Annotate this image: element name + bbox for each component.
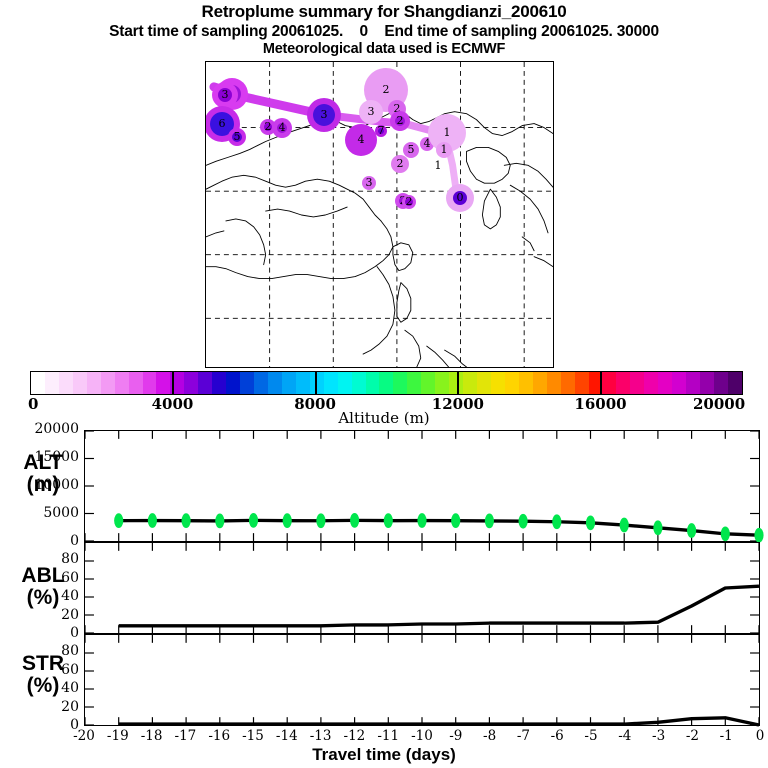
y-tick-label: 60 xyxy=(0,570,79,586)
alt-data-marker xyxy=(417,513,426,528)
plume-marker-day-label: 2 xyxy=(393,157,407,171)
colorbar-segment xyxy=(143,372,157,394)
colorbar-segment xyxy=(630,372,644,394)
colorbar-segment xyxy=(31,372,45,394)
colorbar-segment xyxy=(268,372,282,394)
str-plot-canvas xyxy=(85,635,759,725)
y-tick-label: 15000 xyxy=(0,449,79,465)
y-tick-label: 20 xyxy=(0,607,79,623)
alt-data-marker xyxy=(620,518,629,533)
colorbar-segment xyxy=(198,372,212,394)
altitude-colorbar[interactable] xyxy=(30,371,743,395)
colorbar-segment xyxy=(602,372,616,394)
y-tick-label: 0 xyxy=(0,533,79,549)
plume-marker-day-label: 5 xyxy=(404,143,418,157)
alt-data-marker xyxy=(350,513,359,528)
colorbar-segment xyxy=(254,372,268,394)
y-tick-label: 20 xyxy=(0,699,79,715)
alt-data-marker xyxy=(182,513,191,528)
alt-data-marker xyxy=(451,513,460,528)
plume-marker-day-label: 1 xyxy=(437,143,451,157)
colorbar-segment xyxy=(547,372,561,394)
retroplume-map[interactable]: 53652434232275423221110 xyxy=(205,61,554,368)
meteorological-data-line: Meteorological data used is ECMWF xyxy=(0,41,768,58)
colorbar-segment xyxy=(477,372,491,394)
plume-marker-day-label: 2 xyxy=(402,195,416,209)
alt-data-marker xyxy=(687,523,696,538)
alt-data-marker xyxy=(316,513,325,528)
y-tick-label: 80 xyxy=(0,643,79,659)
plume-marker-day-label: 1 xyxy=(431,159,445,173)
colorbar-segment xyxy=(296,372,310,394)
plume-marker-day-label: 0 xyxy=(453,191,467,205)
alt-data-marker xyxy=(148,513,157,528)
plume-marker-day-label: 1 xyxy=(440,126,454,140)
plume-marker-day-label: 4 xyxy=(354,133,368,147)
colorbar-segment xyxy=(575,372,589,394)
page-title: Retroplume summary for Shangdianzi_20061… xyxy=(0,2,768,22)
abl-plot-canvas xyxy=(85,543,759,633)
colorbar-segment xyxy=(672,372,686,394)
plume-marker-day-label: 2 xyxy=(379,83,393,97)
colorbar-segment xyxy=(505,372,519,394)
str-plot-frame[interactable] xyxy=(84,634,760,726)
y-tick-label: 40 xyxy=(0,680,79,696)
colorbar-segment xyxy=(129,372,143,394)
colorbar-segment xyxy=(700,372,714,394)
colorbar-segment xyxy=(184,372,198,394)
y-tick-label: 10000 xyxy=(0,477,79,493)
x-axis-title: Travel time (days) xyxy=(0,745,768,765)
colorbar-divider xyxy=(600,371,602,395)
y-tick-label: 20000 xyxy=(0,421,79,437)
colorbar-segment xyxy=(379,372,393,394)
colorbar-segment xyxy=(644,372,658,394)
alt-data-marker xyxy=(586,515,595,530)
colorbar-divider xyxy=(457,371,459,395)
alt-data-marker xyxy=(552,514,561,529)
colorbar-segment xyxy=(686,372,700,394)
plume-marker-day-label: 6 xyxy=(215,117,229,131)
colorbar-segment xyxy=(421,372,435,394)
colorbar-segment xyxy=(463,372,477,394)
alt-data-marker xyxy=(653,520,662,535)
alt-plot-frame[interactable] xyxy=(84,430,760,542)
plume-marker-day-label: 2 xyxy=(393,114,407,128)
colorbar-segment xyxy=(366,372,380,394)
plume-marker-day-label: 3 xyxy=(317,108,331,122)
colorbar-segment xyxy=(435,372,449,394)
alt-data-marker xyxy=(721,526,730,541)
alt-data-marker xyxy=(114,513,123,528)
colorbar-segment xyxy=(59,372,73,394)
plume-marker-day-label: 4 xyxy=(275,121,289,135)
colorbar-segment xyxy=(728,372,742,394)
alt-data-marker xyxy=(384,513,393,528)
colorbar-segment xyxy=(658,372,672,394)
plume-marker-day-label: 3 xyxy=(362,176,376,190)
alt-data-marker xyxy=(249,513,258,528)
plume-marker-day-label: 3 xyxy=(218,88,232,102)
colorbar-divider xyxy=(172,371,174,395)
colorbar-segment xyxy=(352,372,366,394)
colorbar-segment xyxy=(533,372,547,394)
alt-plot-canvas xyxy=(85,431,759,541)
colorbar-segment xyxy=(101,372,115,394)
colorbar-segment xyxy=(115,372,129,394)
colorbar-divider xyxy=(315,371,317,395)
plume-marker-day-label: 5 xyxy=(230,130,244,144)
alt-data-marker xyxy=(283,513,292,528)
plume-marker-day-label: 3 xyxy=(364,105,378,119)
colorbar-segment xyxy=(156,372,170,394)
x-tick-label: 0 xyxy=(740,728,768,744)
coastlines xyxy=(206,112,553,367)
alt-data-marker xyxy=(519,514,528,529)
colorbar-segment xyxy=(407,372,421,394)
colorbar-segment xyxy=(616,372,630,394)
abl-plot-frame[interactable] xyxy=(84,542,760,634)
y-tick-label: 80 xyxy=(0,551,79,567)
colorbar-segment xyxy=(226,372,240,394)
colorbar-segment xyxy=(282,372,296,394)
sampling-time-subtitle: Start time of sampling 20061025. 0 End t… xyxy=(0,22,768,41)
colorbar-segment xyxy=(561,372,575,394)
colorbar-segment xyxy=(73,372,87,394)
y-tick-label: 0 xyxy=(0,625,79,641)
colorbar-segment xyxy=(87,372,101,394)
colorbar-segment xyxy=(324,372,338,394)
y-tick-label: 60 xyxy=(0,662,79,678)
alt-data-marker xyxy=(485,514,494,529)
colorbar-gradient xyxy=(30,371,743,395)
y-tick-label: 5000 xyxy=(0,505,79,521)
y-tick-label: 40 xyxy=(0,588,79,604)
plume-marker-day-label: 7 xyxy=(374,124,388,138)
timeseries-panels: ALT (m) ABL (%) STR (%) 050001000015 xyxy=(0,425,768,768)
colorbar-segment xyxy=(393,372,407,394)
colorbar-segment xyxy=(714,372,728,394)
alt-data-marker xyxy=(754,528,763,543)
colorbar-segment xyxy=(519,372,533,394)
colorbar-segment xyxy=(240,372,254,394)
colorbar-segment xyxy=(491,372,505,394)
colorbar-segment xyxy=(45,372,59,394)
title-block: Retroplume summary for Shangdianzi_20061… xyxy=(0,0,768,58)
colorbar-segment xyxy=(338,372,352,394)
colorbar-segment xyxy=(212,372,226,394)
alt-data-marker xyxy=(215,514,224,529)
